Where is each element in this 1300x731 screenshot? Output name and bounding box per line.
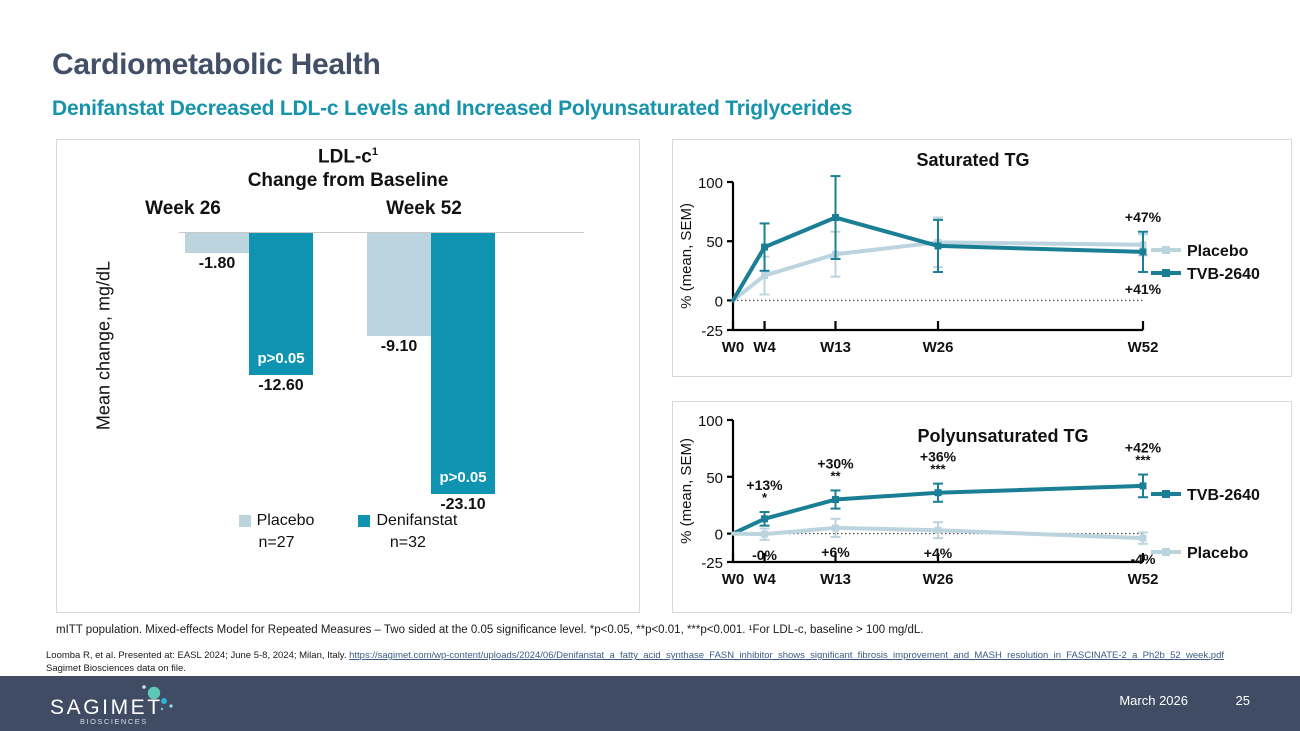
data-point-marker bbox=[1140, 535, 1147, 542]
legend-label: Placebo bbox=[1187, 243, 1249, 260]
legend-entry-tvb-2640: TVB-2640 bbox=[1151, 487, 1260, 504]
data-point-marker bbox=[935, 242, 942, 249]
ldl-title-superscript: 1 bbox=[372, 146, 378, 158]
legend-label-denifanstat: Denifanstat bbox=[376, 512, 457, 530]
logo-bubble-small-1 bbox=[142, 685, 146, 689]
data-point-marker bbox=[1140, 482, 1147, 489]
y-tick-label: 50 bbox=[706, 234, 723, 251]
bar-placebo-week-52: -9.10 bbox=[367, 233, 431, 336]
x-tick-label: W13 bbox=[820, 571, 851, 588]
series-placebo: -0%+6%+4%-4% bbox=[733, 519, 1156, 567]
sagimet-logo: SAGIMET BIOSCIENCES bbox=[40, 684, 190, 726]
chart-title: Polyunsaturated TG bbox=[917, 426, 1088, 446]
legend-entry-placebo: Placebo bbox=[1151, 545, 1249, 562]
footnote-statistics: mITT population. Mixed-effects Model for… bbox=[56, 624, 924, 636]
saturated-tg-chart: Saturated TG-25050100% (mean, SEM)W0W4W1… bbox=[673, 140, 1291, 376]
data-point-label: +4% bbox=[924, 545, 953, 561]
y-tick-label: 100 bbox=[698, 413, 723, 430]
legend-entry-placebo: Placebo bbox=[1151, 243, 1249, 260]
legend-marker bbox=[1162, 246, 1170, 254]
significance-marker: *** bbox=[930, 462, 946, 477]
legend-marker bbox=[1162, 490, 1170, 498]
legend-label: TVB-2640 bbox=[1187, 266, 1260, 283]
bar-pvalue-label: p>0.05 bbox=[257, 350, 304, 367]
chart-title: Saturated TG bbox=[916, 150, 1029, 170]
bar-rect bbox=[185, 233, 249, 253]
x-tick-label: W0 bbox=[722, 339, 745, 356]
data-point-label: -0% bbox=[752, 547, 777, 563]
y-tick-label: 100 bbox=[698, 175, 723, 192]
data-point-marker bbox=[761, 272, 768, 279]
polyunsaturated-tg-chart-panel: Polyunsaturated TG-25050100% (mean, SEM)… bbox=[672, 401, 1292, 613]
y-axis-label: % (mean, SEM) bbox=[678, 438, 695, 544]
logo-wordmark: SAGIMET bbox=[50, 696, 163, 719]
y-tick-label: -25 bbox=[701, 555, 723, 572]
bar-denifanstat-week-26: p>0.05-12.60 bbox=[249, 233, 313, 375]
x-tick-label: W26 bbox=[923, 339, 954, 356]
legend-label-placebo: Placebo bbox=[257, 512, 315, 530]
data-point-marker bbox=[832, 214, 839, 221]
x-tick-label: W0 bbox=[722, 571, 745, 588]
x-tick-label: W52 bbox=[1128, 339, 1159, 356]
saturated-tg-chart-panel: Saturated TG-25050100% (mean, SEM)W0W4W1… bbox=[672, 139, 1292, 377]
ldl-group-label-week52: Week 52 bbox=[354, 198, 494, 220]
bar-value-label: -9.10 bbox=[381, 338, 417, 356]
ldl-chart-title: LDL-c1 bbox=[57, 146, 639, 168]
data-point-marker bbox=[935, 489, 942, 496]
bar-rect bbox=[431, 233, 495, 494]
data-point-marker bbox=[1140, 248, 1147, 255]
x-tick-label: W4 bbox=[753, 571, 776, 588]
data-point-label: +6% bbox=[821, 544, 850, 560]
page-subtitle: Denifanstat Decreased LDL-c Levels and I… bbox=[52, 97, 852, 121]
legend-label: Placebo bbox=[1187, 545, 1249, 562]
y-tick-label: -25 bbox=[701, 323, 723, 340]
page-title: Cardiometabolic Health bbox=[52, 48, 380, 82]
series-tvb-2640: +41% bbox=[733, 176, 1162, 300]
data-point-marker bbox=[832, 524, 839, 531]
footer-date: March 2026 bbox=[1119, 693, 1188, 708]
significance-marker: ** bbox=[830, 468, 841, 483]
citation-prefix: Loomba R, et al. Presented at: EASL 2024… bbox=[46, 650, 349, 661]
y-tick-label: 0 bbox=[715, 293, 723, 310]
legend-swatch-denifanstat bbox=[358, 515, 370, 527]
series-placebo: +47% bbox=[733, 209, 1162, 300]
series-end-label: +47% bbox=[1125, 209, 1162, 225]
slide-root: Cardiometabolic Health Denifanstat Decre… bbox=[0, 0, 1300, 731]
significance-marker: *** bbox=[1135, 453, 1151, 468]
x-tick-label: W13 bbox=[820, 339, 851, 356]
legend-marker bbox=[1162, 269, 1170, 277]
bar-value-label: -12.60 bbox=[258, 377, 303, 395]
y-axis-label: % (mean, SEM) bbox=[678, 203, 695, 309]
slide-footer: SAGIMET BIOSCIENCES March 2026 25 bbox=[0, 676, 1300, 731]
ldl-title-text: LDL-c bbox=[318, 146, 372, 167]
y-tick-label: 50 bbox=[706, 470, 723, 487]
logo-tagline: BIOSCIENCES bbox=[80, 717, 148, 726]
legend-n-placebo: n=27 bbox=[239, 534, 315, 552]
ldl-chart-subtitle: Change from Baseline bbox=[57, 170, 639, 192]
ldl-legend: Placebo n=27 Denifanstat n=32 bbox=[57, 512, 639, 552]
series-end-label: +41% bbox=[1125, 281, 1162, 297]
data-point-marker bbox=[935, 527, 942, 534]
bar-placebo-week-26: -1.80 bbox=[185, 233, 249, 253]
citation-data-on-file: Sagimet Biosciences data on file. bbox=[46, 663, 186, 674]
legend-item-denifanstat: Denifanstat n=32 bbox=[358, 512, 457, 552]
legend-item-placebo: Placebo n=27 bbox=[239, 512, 315, 552]
bar-rect bbox=[367, 233, 431, 336]
ldl-group-label-week26: Week 26 bbox=[113, 198, 253, 220]
footnote-citation: Loomba R, et al. Presented at: EASL 2024… bbox=[46, 650, 1224, 676]
ldl-chart-panel: LDL-c1 Change from Baseline Week 26 Week… bbox=[56, 139, 640, 613]
x-tick-label: W4 bbox=[753, 339, 776, 356]
legend-marker bbox=[1162, 548, 1170, 556]
y-tick-label: 0 bbox=[715, 527, 723, 544]
bar-value-label: -1.80 bbox=[199, 255, 235, 273]
bar-denifanstat-week-52: p>0.05-23.10 bbox=[431, 233, 495, 494]
bar-pvalue-label: p>0.05 bbox=[439, 469, 486, 486]
data-point-marker bbox=[832, 496, 839, 503]
x-tick-label: W52 bbox=[1128, 571, 1159, 588]
citation-link[interactable]: https://sagimet.com/wp-content/uploads/2… bbox=[349, 650, 1224, 661]
logo-bubble-small-2 bbox=[169, 704, 172, 707]
data-point-marker bbox=[761, 244, 768, 251]
ldl-y-axis-label: Mean change, mg/dL bbox=[94, 221, 115, 471]
footer-page-number: 25 bbox=[1236, 693, 1250, 708]
x-tick-label: W26 bbox=[923, 571, 954, 588]
legend-n-denifanstat: n=32 bbox=[358, 534, 457, 552]
series-tvb-2640: +13%*+30%**+36%***+42%*** bbox=[733, 440, 1162, 534]
data-point-marker bbox=[761, 515, 768, 522]
data-point-marker bbox=[761, 531, 768, 538]
polyunsaturated-tg-chart: Polyunsaturated TG-25050100% (mean, SEM)… bbox=[673, 402, 1291, 612]
legend-entry-tvb-2640: TVB-2640 bbox=[1151, 266, 1260, 283]
legend-swatch-placebo bbox=[239, 515, 251, 527]
legend-label: TVB-2640 bbox=[1187, 487, 1260, 504]
